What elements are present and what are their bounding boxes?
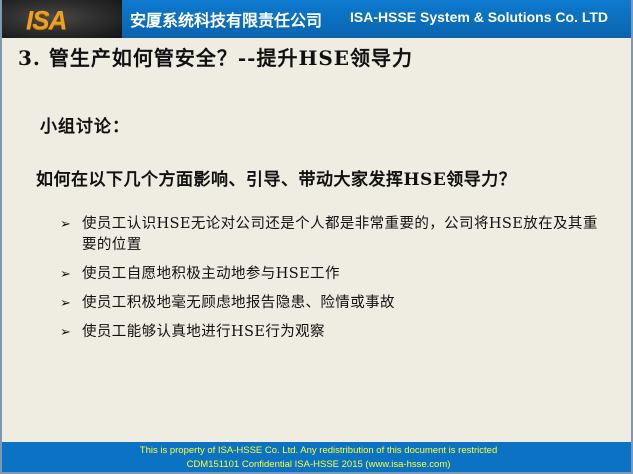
bullet-list: ➢ 使员工认识HSE无论对公司还是个人都是非常重要的，公司将HSE放在及其重要的… xyxy=(60,214,600,351)
list-item-text: 使员工积极地毫无顾虑地报告隐患、险情或事故 xyxy=(82,293,600,314)
slide-header: ISA 安厦系统科技有限责任公司 ISA-HSSE System & Solut… xyxy=(2,0,633,38)
list-item-text: 使员工自愿地积极主动地参与HSE工作 xyxy=(82,264,600,285)
bullet-arrow-icon: ➢ xyxy=(60,214,71,235)
footer-document-id-line: CDM151101 Confidential ISA-HSSE 2015 (ww… xyxy=(2,458,633,472)
bullet-arrow-icon: ➢ xyxy=(60,293,71,314)
footer-copyright-line: This is property of ISA-HSSE Co. Ltd. An… xyxy=(2,442,633,458)
list-item: ➢ 使员工能够认真地进行HSE行为观察 xyxy=(60,322,600,343)
slide-canvas: ISA 安厦系统科技有限责任公司 ISA-HSSE System & Solut… xyxy=(0,0,633,474)
slide-footer: This is property of ISA-HSSE Co. Ltd. An… xyxy=(2,442,633,472)
list-item: ➢ 使员工积极地毫无顾虑地报告隐患、险情或事故 xyxy=(60,293,600,314)
bullet-arrow-icon: ➢ xyxy=(60,264,71,285)
company-name-english: ISA-HSSE System & Solutions Co. LTD xyxy=(350,9,608,25)
list-item: ➢ 使员工自愿地积极主动地参与HSE工作 xyxy=(60,264,600,285)
logo-container: ISA xyxy=(2,0,122,38)
page-title: 3. 管生产如何管安全？--提升HSE领导力 xyxy=(18,42,413,71)
list-item-text: 使员工认识HSE无论对公司还是个人都是非常重要的，公司将HSE放在及其重要的位置 xyxy=(82,214,600,256)
discussion-question: 如何在以下几个方面影响、引导、带动大家发挥HSE领导力？ xyxy=(36,165,516,190)
list-item: ➢ 使员工认识HSE无论对公司还是个人都是非常重要的，公司将HSE放在及其重要的… xyxy=(60,214,600,256)
company-name-chinese: 安厦系统科技有限责任公司 xyxy=(130,7,322,31)
isa-logo-icon: ISA xyxy=(26,5,66,36)
section-lead-label: 小组讨论： xyxy=(40,112,130,137)
bullet-arrow-icon: ➢ xyxy=(60,322,71,343)
list-item-text: 使员工能够认真地进行HSE行为观察 xyxy=(82,322,600,343)
